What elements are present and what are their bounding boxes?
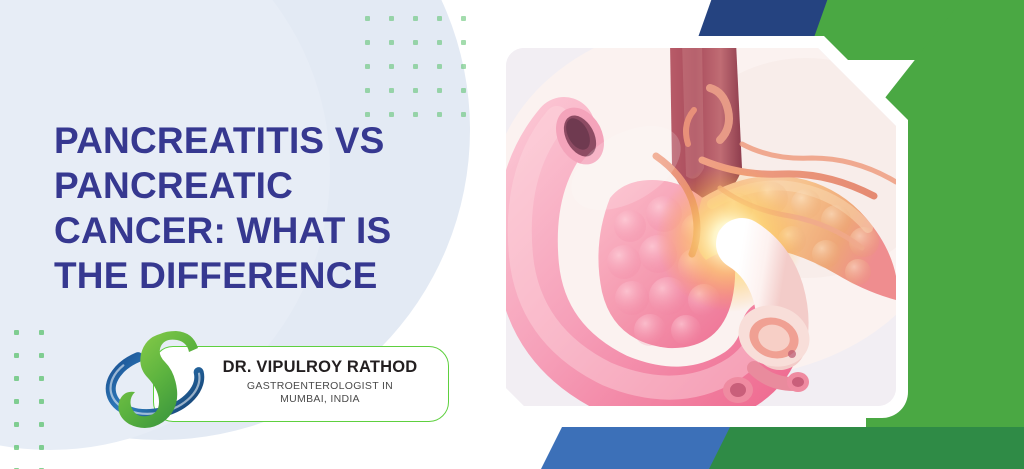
decorative-dot — [39, 445, 44, 450]
brand-tagline: GASTROENTEROLOGIST IN MUMBAI, INDIA — [195, 380, 445, 407]
decorative-dot — [437, 88, 442, 93]
decorative-dot — [461, 16, 466, 21]
brand-name: DR. VIPULROY RATHOD — [195, 358, 445, 377]
decorative-dot — [39, 353, 44, 358]
decorative-dot — [437, 112, 442, 117]
decorative-dot — [461, 64, 466, 69]
decorative-dot — [413, 112, 418, 117]
decorative-dot — [39, 422, 44, 427]
decorative-dot — [39, 330, 44, 335]
brand-text-block: DR. VIPULROY RATHOD GASTROENTEROLOGIST I… — [195, 358, 445, 407]
decorative-dot — [461, 112, 466, 117]
decorative-dot — [413, 40, 418, 45]
decorative-dot — [39, 376, 44, 381]
brand-tagline-line-1: GASTROENTEROLOGIST IN — [195, 380, 445, 393]
brand-lockup[interactable]: DR. VIPULROY RATHOD GASTROENTEROLOGIST I… — [103, 328, 453, 436]
decorative-dot — [14, 399, 19, 404]
decorative-dot — [365, 40, 370, 45]
decorative-dot — [413, 88, 418, 93]
decorative-dot — [14, 330, 19, 335]
decorative-dot — [437, 16, 442, 21]
decorative-dot — [365, 112, 370, 117]
decorative-dot — [461, 40, 466, 45]
decorative-dot — [14, 445, 19, 450]
decorative-dot — [14, 422, 19, 427]
decorative-dot — [389, 112, 394, 117]
banner-root: PANCREATITIS VS PANCREATIC CANCER: WHAT … — [0, 0, 1024, 469]
stomach-swoosh-logo-icon — [103, 328, 207, 434]
decorative-dot — [461, 88, 466, 93]
decorative-dot — [389, 88, 394, 93]
pancreas-duodenum-anatomy-illustration — [506, 48, 896, 406]
dot-grid-bottom-left — [14, 330, 64, 469]
bottom-blue-parallelogram-shape — [540, 427, 732, 469]
decorative-dot — [389, 40, 394, 45]
decorative-dot — [437, 64, 442, 69]
decorative-dot — [39, 399, 44, 404]
page-title: PANCREATITIS VS PANCREATIC CANCER: WHAT … — [54, 118, 474, 299]
brand-tagline-line-2: MUMBAI, INDIA — [195, 393, 445, 406]
decorative-dot — [389, 64, 394, 69]
decorative-dot — [389, 16, 394, 21]
bottom-green-band-shape — [708, 427, 1024, 469]
decorative-dot — [365, 88, 370, 93]
decorative-dot — [413, 16, 418, 21]
decorative-dot — [413, 64, 418, 69]
decorative-dot — [365, 64, 370, 69]
decorative-dot — [14, 353, 19, 358]
decorative-dot — [437, 40, 442, 45]
decorative-dot — [14, 376, 19, 381]
decorative-dot — [365, 16, 370, 21]
